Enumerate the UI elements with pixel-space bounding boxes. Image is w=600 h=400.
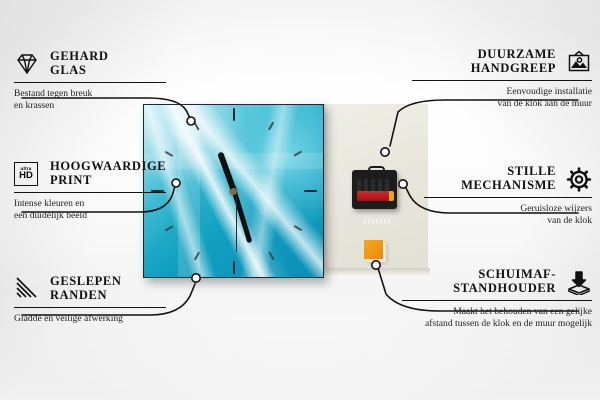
feature-stille-mechanisme: STILLE MECHANISME Geruisloze wijzers van… — [424, 165, 592, 227]
feature-description: Geruisloze wijzers van de klok — [424, 203, 592, 226]
diagonal-lines-icon — [14, 277, 40, 301]
divider — [14, 82, 166, 83]
feature-duurzame-handgreep: DUURZAME HANDGREEP Eenvoudige installati… — [412, 48, 592, 110]
feature-header: DUURZAME HANDGREEP — [412, 48, 592, 75]
feature-title: DUURZAME HANDGREEP — [471, 48, 556, 75]
feature-description: Gladde en veilige afwerking — [14, 313, 166, 325]
feature-geslepen-randen: GESLEPEN RANDEN Gladde en veilige afwerk… — [14, 275, 166, 325]
desc-line-2: van de klok — [547, 215, 592, 226]
title-line-1: HOOGWAARDIGE — [50, 159, 166, 173]
desc-line-1: Maakt het behouden van een gelijke — [453, 306, 592, 317]
node-handgreep — [381, 148, 389, 156]
ultra-hd-icon: ultra HD — [14, 162, 40, 186]
divider — [14, 307, 166, 308]
feature-title: SCHUIMAF- STANDHOUDER — [453, 268, 556, 295]
divider — [424, 197, 592, 198]
desc-line-1: Eenvoudige installatie — [506, 86, 592, 97]
desc-line-2: en krassen — [14, 100, 54, 111]
feature-header: SCHUIMAF- STANDHOUDER — [402, 268, 592, 295]
divider — [14, 192, 166, 193]
feature-description: Bestand tegen breuk en krassen — [14, 88, 166, 111]
feature-description: Maakt het behouden van een gelijke afsta… — [402, 306, 592, 329]
feature-header: STILLE MECHANISME — [424, 165, 592, 192]
press-down-icon — [566, 270, 592, 294]
feature-title: STILLE MECHANISME — [461, 165, 556, 192]
feature-gehard-glas: GEHARD GLAS Bestand tegen breuk en krass… — [14, 50, 166, 112]
desc-line-1: Intense kleuren en — [14, 198, 84, 209]
title-line-2: PRINT — [50, 173, 92, 187]
feature-schuimafstandhouder: SCHUIMAF- STANDHOUDER Maakt het behouden… — [402, 268, 592, 330]
divider — [412, 80, 592, 81]
title-line-2: GLAS — [50, 63, 86, 77]
title-line-2: MECHANISME — [461, 178, 556, 192]
title-line-1: SCHUIMAF- — [478, 267, 556, 281]
feature-hoogwaardige-print: ultra HD HOOGWAARDIGE PRINT Intense kleu… — [14, 160, 166, 222]
feature-title: HOOGWAARDIGE PRINT — [50, 160, 166, 187]
title-line-1: GEHARD — [50, 49, 108, 63]
desc-line-1: Geruisloze wijzers — [520, 203, 592, 214]
divider — [402, 300, 592, 301]
picture-frame-icon — [566, 50, 592, 74]
feature-header: GESLEPEN RANDEN — [14, 275, 166, 302]
title-line-1: STILLE — [507, 164, 556, 178]
gear-icon — [566, 167, 592, 191]
title-line-2: HANDGREEP — [471, 61, 556, 75]
feature-description: Eenvoudige installatie van de klok aan d… — [412, 86, 592, 109]
title-line-1: DUURZAME — [478, 47, 556, 61]
badge-text-bottom: HD — [19, 171, 33, 181]
title-line-2: RANDEN — [50, 288, 107, 302]
node-randen — [192, 274, 200, 282]
desc-line-1: Bestand tegen breuk — [14, 88, 92, 99]
feature-title: GESLEPEN RANDEN — [50, 275, 122, 302]
node-print — [172, 179, 180, 187]
desc-line-2: van de klok aan de muur — [497, 98, 592, 109]
ultra-hd-badge: ultra HD — [14, 162, 38, 186]
feature-header: ultra HD HOOGWAARDIGE PRINT — [14, 160, 166, 187]
feature-title: GEHARD GLAS — [50, 50, 108, 77]
diamond-icon — [14, 52, 40, 76]
desc-line-1: Gladde en veilige afwerking — [14, 313, 123, 324]
node-mechanisme — [399, 180, 407, 188]
desc-line-2: een duidelijk beeld — [14, 210, 87, 221]
feature-description: Intense kleuren en een duidelijk beeld — [14, 198, 166, 221]
node-gehard — [187, 117, 195, 125]
node-standhouder — [372, 261, 380, 269]
desc-line-2: afstand tussen de klok en de muur mogeli… — [425, 318, 592, 329]
title-line-1: GESLEPEN — [50, 274, 122, 288]
feature-header: GEHARD GLAS — [14, 50, 166, 77]
title-line-2: STANDHOUDER — [453, 281, 556, 295]
infographic-canvas: GEHARD GLAS Bestand tegen breuk en krass… — [0, 0, 600, 400]
